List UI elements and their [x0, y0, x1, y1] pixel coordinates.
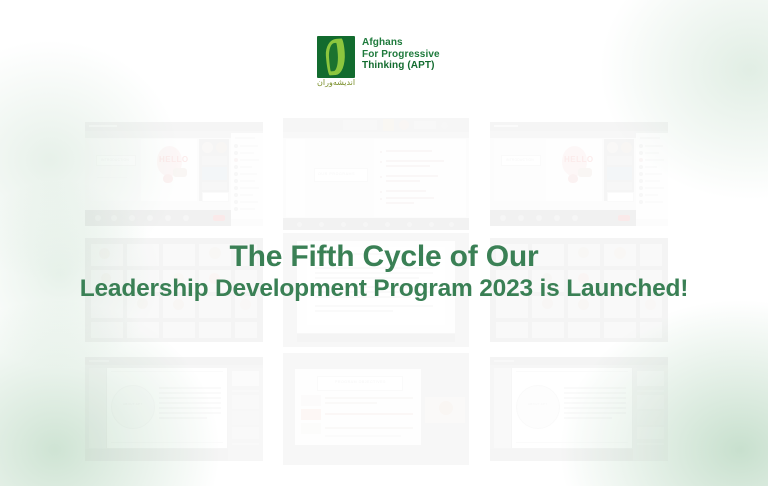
collage-tile-9: ABOUT APT: [490, 357, 668, 461]
collage-tile-4: [85, 238, 263, 342]
collage-tile-2: OUR PROGRAMS: [283, 118, 469, 230]
poster-canvas: Afghans For Progressive Thinking (APT) ا…: [0, 0, 768, 486]
collage-tile-8: PROGRAM OBJECTIVES: [283, 353, 469, 465]
collage-tile-6: [490, 238, 668, 342]
collage-tile-1: INTRODUCTION HELLO: [85, 122, 263, 226]
collage-tile-5: [283, 233, 469, 347]
screenshot-collage: INTRODUCTION HELLO: [0, 0, 768, 486]
collage-tile-7: ABOUT APT: [85, 357, 263, 461]
collage-tile-3: INTRODUCTION HELLO: [490, 122, 668, 226]
